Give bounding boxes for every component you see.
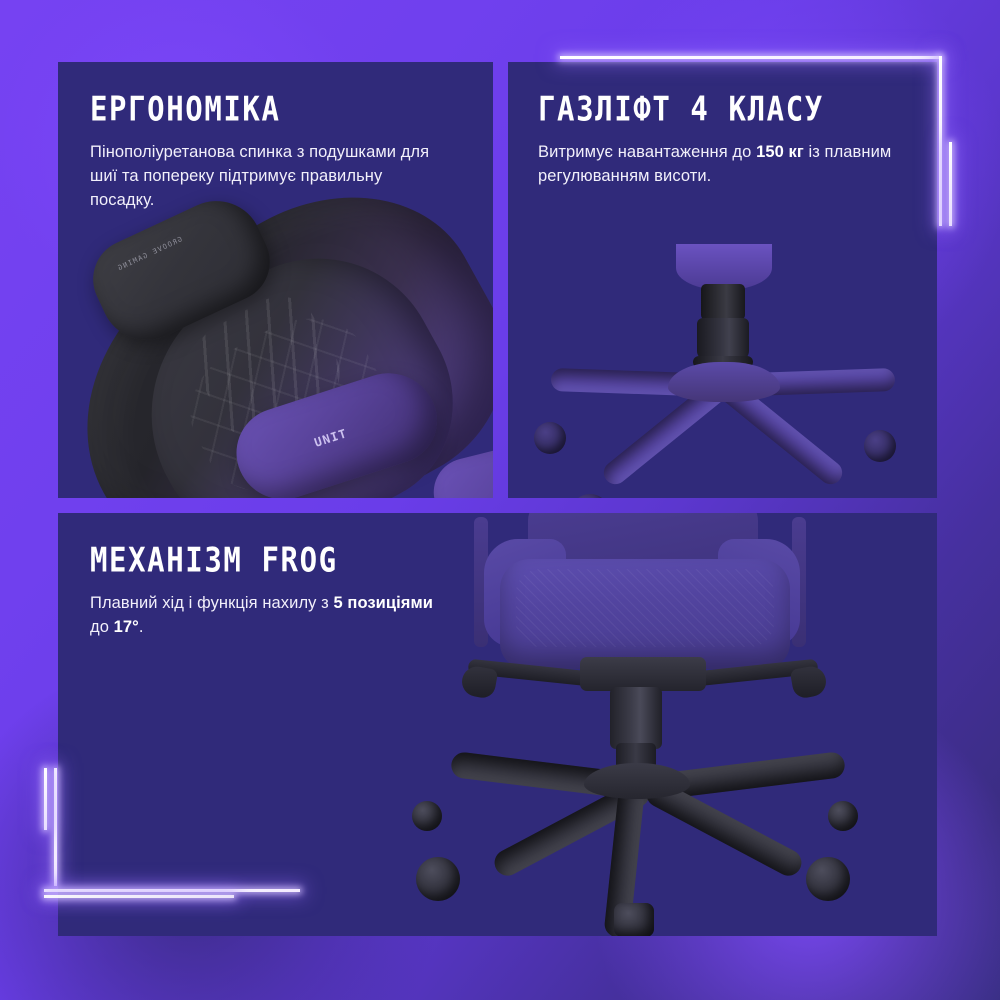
gas-cylinder-upper bbox=[610, 687, 662, 749]
tilt-lever-knob-right bbox=[790, 664, 829, 699]
caster-wheel bbox=[416, 857, 460, 901]
caster-wheel bbox=[864, 430, 896, 462]
seat-cushion bbox=[500, 559, 790, 669]
card-title-ergonomics: ЕРГОНОМІКА bbox=[90, 92, 281, 126]
caster-wheel bbox=[806, 857, 850, 901]
card-description-ergonomics: Пінополіуретанова спинка з подушками для… bbox=[90, 140, 435, 212]
card-title-frog: МЕХАНІЗМ FROG bbox=[90, 543, 338, 577]
caster-wheel bbox=[570, 494, 610, 498]
caster-wheel bbox=[614, 903, 654, 936]
caster-wheel bbox=[412, 801, 442, 831]
tilt-lever-knob-left bbox=[460, 664, 499, 699]
base-center-hub bbox=[668, 362, 780, 402]
card-description-gaslift: Витримує навантаження до 150 кг із плавн… bbox=[538, 140, 898, 188]
gas-cylinder-upper bbox=[701, 284, 745, 320]
caster-wheel bbox=[828, 801, 858, 831]
feature-card-ergonomics: GROOVE GAMING UNIT ЕРГОНОМІКА Пінополіур… bbox=[58, 62, 493, 498]
feature-card-frog-mechanism: МЕХАНІЗМ FROG Плавний хід і функція нахи… bbox=[58, 513, 937, 936]
base-center-hub bbox=[584, 763, 690, 799]
seat-texture-pattern bbox=[516, 569, 774, 647]
caster-wheel bbox=[534, 422, 566, 454]
chair-backrest-photo: GROOVE GAMING UNIT bbox=[58, 212, 493, 498]
card-title-gaslift: ГАЗЛІФТ 4 КЛАСУ bbox=[538, 92, 824, 126]
feature-card-gaslift: ГАЗЛІФТ 4 КЛАСУ Витримує навантаження до… bbox=[508, 62, 937, 498]
card-description-frog: Плавний хід і функція нахилу з 5 позиція… bbox=[90, 591, 450, 639]
frog-mechanism-housing bbox=[580, 657, 706, 691]
gas-cylinder-lower bbox=[697, 318, 749, 360]
full-gaming-chair-photo bbox=[388, 513, 908, 936]
